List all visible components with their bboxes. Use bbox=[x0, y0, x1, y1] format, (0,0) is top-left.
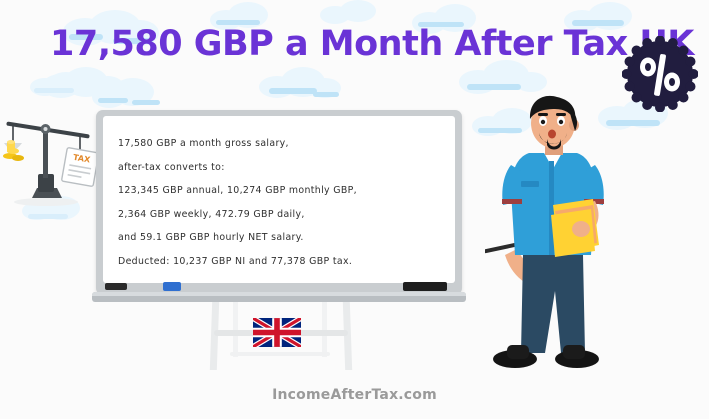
site-watermark: IncomeAfterTax.com bbox=[0, 387, 709, 403]
marker-blue-icon bbox=[163, 282, 181, 291]
whiteboard-tray bbox=[92, 292, 466, 302]
shirt-placket bbox=[549, 161, 554, 255]
mouth bbox=[548, 130, 556, 139]
cloud-icon bbox=[36, 66, 128, 100]
whiteboard-line-5: and 59.1 GBP GBP hourly NET salary. bbox=[118, 226, 448, 250]
eyebrow-left bbox=[538, 113, 548, 116]
whiteboard-stand-leg-left bbox=[210, 302, 219, 370]
whiteboard-line-6: Deducted: 10,237 GBP NI and 77,378 GBP t… bbox=[118, 250, 448, 274]
whiteboard-line-2: after-tax converts to: bbox=[118, 156, 448, 180]
whiteboard-stand-leg-right bbox=[343, 302, 352, 370]
marker-black-icon bbox=[105, 283, 127, 290]
tray-highlight bbox=[92, 292, 466, 296]
whiteboard-line-3: 123,345 GBP annual, 10,274 GBP monthly G… bbox=[118, 179, 448, 203]
cloud-icon bbox=[88, 78, 168, 108]
cloud-icon bbox=[28, 72, 98, 98]
teacher-character bbox=[485, 95, 675, 380]
cloud-icon bbox=[455, 60, 551, 94]
shirt-pocket bbox=[521, 181, 539, 187]
whiteboard-text: 17,580 GBP a month gross salary, after-t… bbox=[118, 132, 448, 273]
page-title: 17,580 GBP a Month After Tax UK bbox=[50, 24, 650, 64]
whiteboard-line-4: 2,364 GBP weekly, 472.79 GBP daily, bbox=[118, 203, 448, 227]
cloud-icon bbox=[255, 66, 345, 100]
whiteboard-line-1: 17,580 GBP a month gross salary, bbox=[118, 132, 448, 156]
whiteboard-stand-crossbar-lower bbox=[230, 352, 330, 356]
eyebrow-right bbox=[556, 113, 566, 116]
infographic-canvas: 17,580 GBP a Month After Tax UK bbox=[0, 0, 709, 419]
hand-right bbox=[572, 221, 590, 237]
eraser-icon bbox=[403, 282, 447, 291]
cloud-icon bbox=[318, 0, 388, 24]
trousers bbox=[521, 255, 585, 353]
uk-flag bbox=[253, 318, 301, 347]
balance-scales-icon: TAX bbox=[2, 112, 106, 207]
